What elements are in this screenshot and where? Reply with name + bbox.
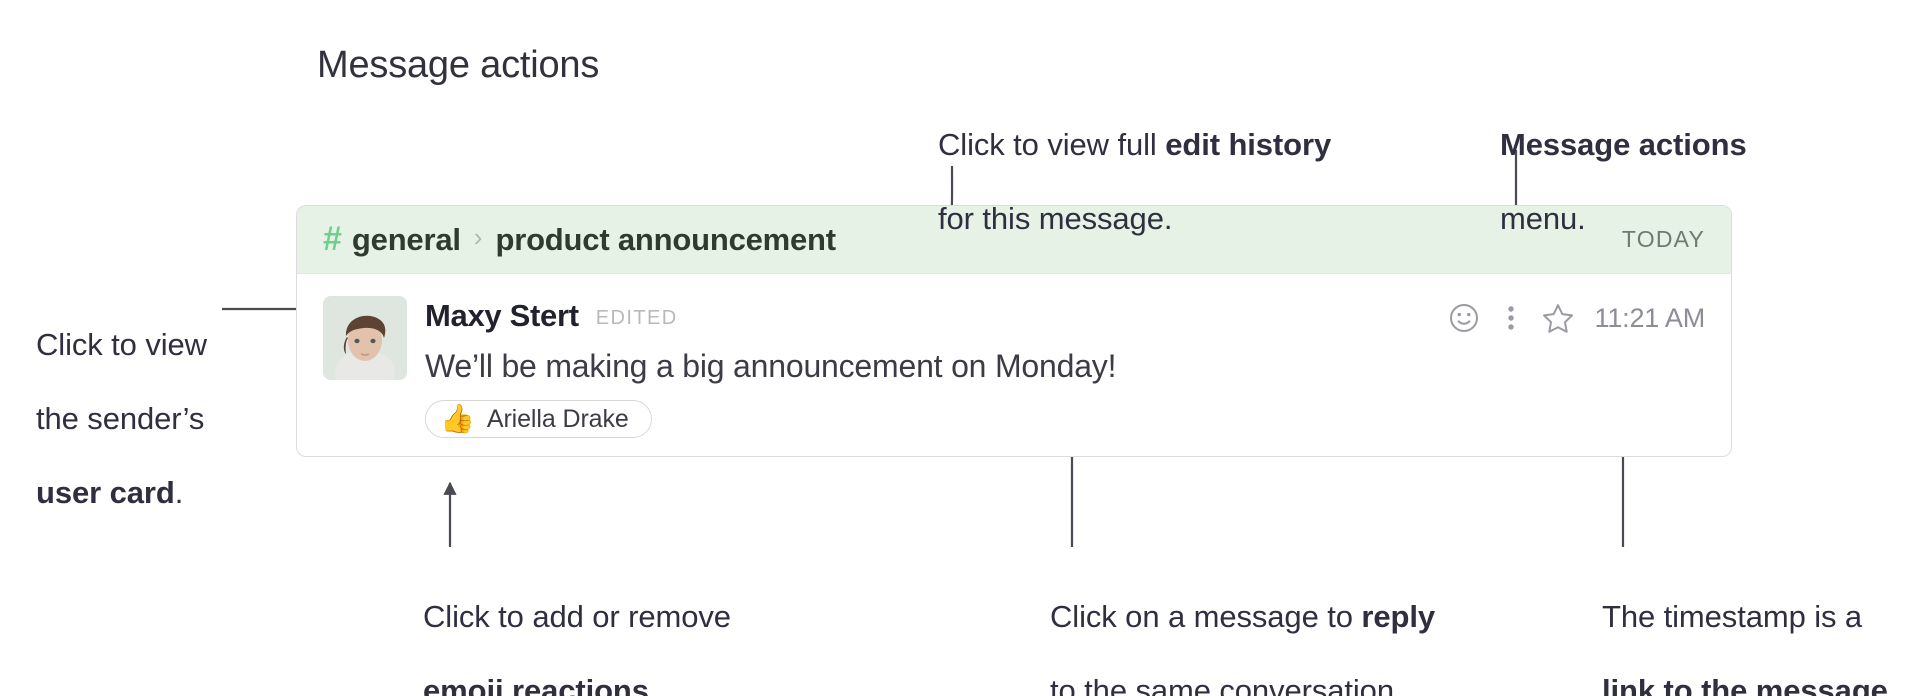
annotation-timestamp-link: The timestamp is a link to the message (… [1602,561,1912,696]
topic-name[interactable]: product announcement [495,222,835,258]
annotation-emoji-reactions-line1: Click to add or remove [423,599,731,634]
reaction-pill[interactable]: 👍 Ariella Drake [425,400,652,438]
annotation-timestamp-bold: link to the message [1602,673,1888,696]
add-reaction-icon[interactable] [1445,299,1483,337]
message-actions-menu-icon[interactable] [1499,299,1523,337]
stream-name[interactable]: general [352,222,461,258]
edited-badge[interactable]: EDITED [596,307,678,330]
thumbs-up-icon: 👍 [440,405,475,433]
annotation-user-card: Click to view the sender’s user card. [36,289,251,511]
annotation-message-actions-line2: menu. [1500,201,1586,236]
annotation-user-card-line1: Click to view [36,327,207,362]
vertical-dots-icon [1504,301,1518,335]
avatar[interactable] [323,296,407,380]
annotation-reply-line2: to the same conversation. [1050,673,1402,696]
smiley-icon [1447,301,1481,335]
annotation-user-card-line2: the sender’s [36,401,204,436]
annotated-message-diagram: Message actions # general › product anno… [0,0,1924,696]
reaction-row: 👍 Ariella Drake [425,400,1705,438]
chevron-right-icon: › [474,222,483,253]
annotation-reply-bold: reply [1361,599,1435,634]
annotation-reply: Click on a message to reply to the same … [1050,561,1450,696]
annotation-edit-history: Click to view full edit history for this… [938,89,1358,237]
annotation-message-actions-bold: Message actions [1500,127,1747,162]
hash-icon: # [323,222,342,256]
reaction-label: Ariella Drake [487,405,629,434]
annotation-timestamp-line1: The timestamp is a [1602,599,1862,634]
page-title: Message actions [317,42,599,88]
annotation-edit-history-lead: Click to view full [938,127,1165,162]
annotation-user-card-line3-bold: user card [36,475,175,510]
avatar-portrait-icon [323,296,407,380]
annotation-emoji-reactions-tail: . [649,673,658,696]
message-card: # general › product announcement TODAY [296,205,1732,457]
annotation-edit-history-bold: edit history [1165,127,1331,162]
message-actions-cluster: 11:21 AM [1445,298,1705,338]
annotation-edit-history-line2: for this message. [938,201,1172,236]
star-message-icon[interactable] [1539,299,1577,337]
sender-name[interactable]: Maxy Stert [425,298,579,334]
message-body-text[interactable]: We’ll be making a big announcement on Mo… [425,346,1705,386]
annotation-message-actions: Message actions menu. [1500,89,1800,237]
annotation-user-card-line3-tail: . [175,475,184,510]
message-row[interactable]: Maxy Stert EDITED We’ll be making a big … [297,274,1731,438]
star-outline-icon [1540,301,1576,335]
annotation-emoji-reactions: Click to add or remove emoji reactions. [423,561,753,696]
annotation-reply-lead: Click on a message to [1050,599,1361,634]
message-timestamp[interactable]: 11:21 AM [1595,303,1705,334]
annotation-emoji-reactions-bold: emoji reactions [423,673,649,696]
